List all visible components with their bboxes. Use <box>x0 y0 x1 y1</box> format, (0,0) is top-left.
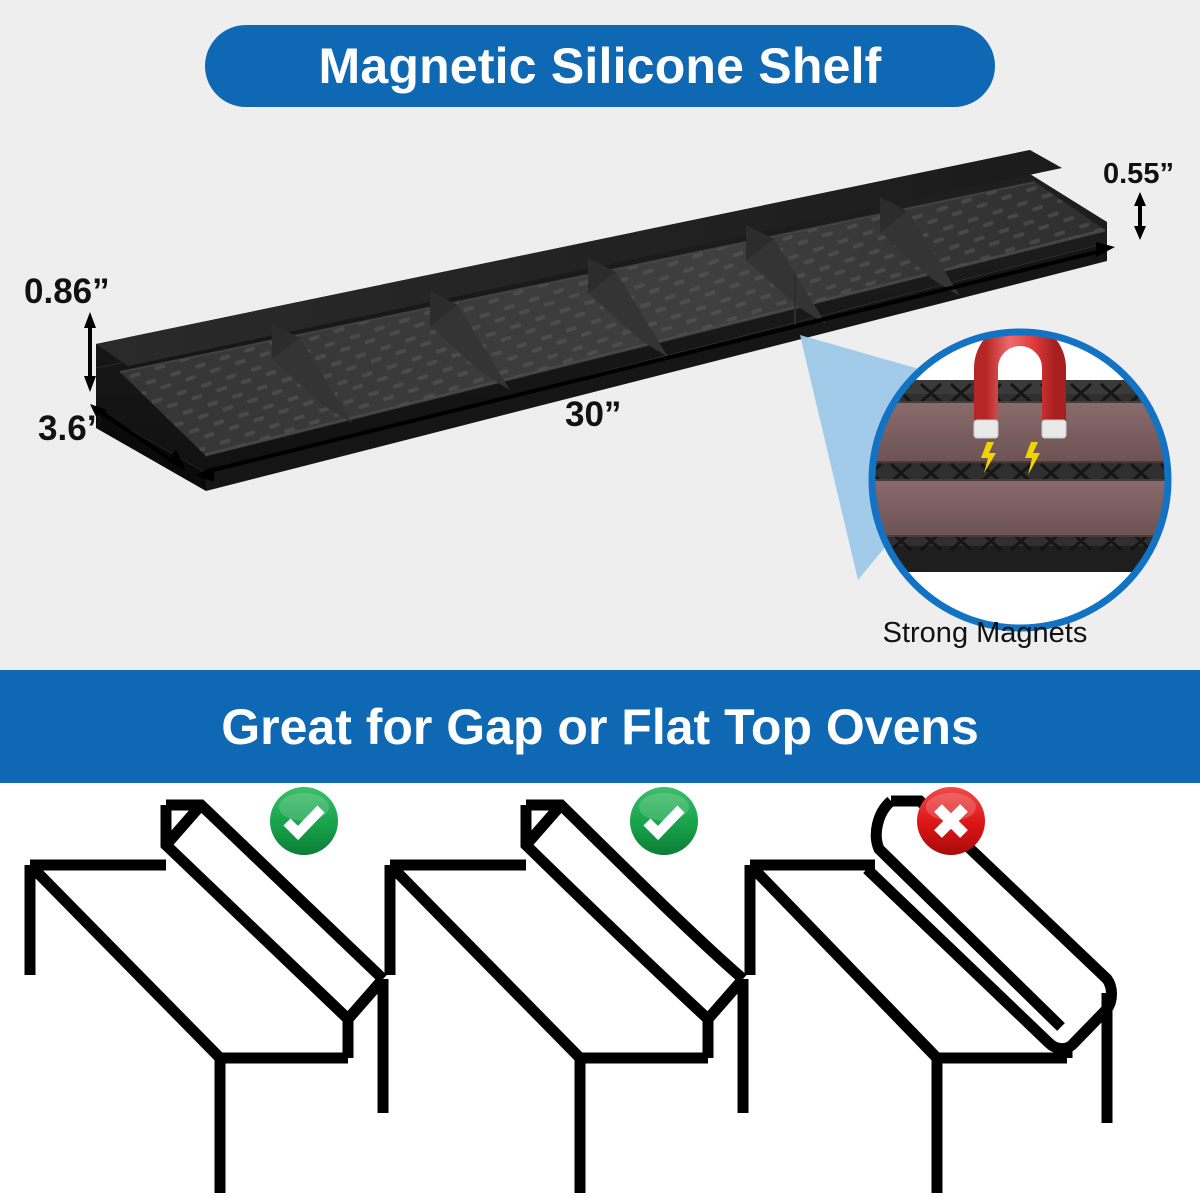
status-badge-cross <box>915 785 987 857</box>
oven-diagram-flat-back <box>0 783 400 1199</box>
banner-title: Great for Gap or Flat Top Ovens <box>221 698 979 756</box>
compatibility-banner: Great for Gap or Flat Top Ovens <box>0 670 1200 783</box>
dimension-thickness-label: 0.55” <box>1103 158 1174 191</box>
dimension-depth-label: 3.6” <box>38 409 104 449</box>
product-dimensions-panel: Magnetic Silicone Shelf <box>0 0 1200 670</box>
status-badge-check <box>268 785 340 857</box>
page-title: Magnetic Silicone Shelf <box>318 37 881 95</box>
infographic-page: Magnetic Silicone Shelf <box>0 0 1200 1199</box>
dimension-length-label: 30” <box>565 395 621 435</box>
magnet-callout-caption: Strong Magnets <box>860 617 1110 650</box>
dimension-height-label: 0.86” <box>24 272 110 312</box>
magnet-callout-circle <box>855 320 1185 650</box>
oven-line-art <box>0 783 400 1199</box>
oven-compatibility-panel <box>0 783 1200 1199</box>
status-badge-check <box>628 785 700 857</box>
oven-line-art <box>360 783 760 1199</box>
oven-diagram-rounded-back <box>715 783 1115 1199</box>
title-pill: Magnetic Silicone Shelf <box>205 25 995 107</box>
oven-diagram-sloped-back <box>360 783 760 1199</box>
